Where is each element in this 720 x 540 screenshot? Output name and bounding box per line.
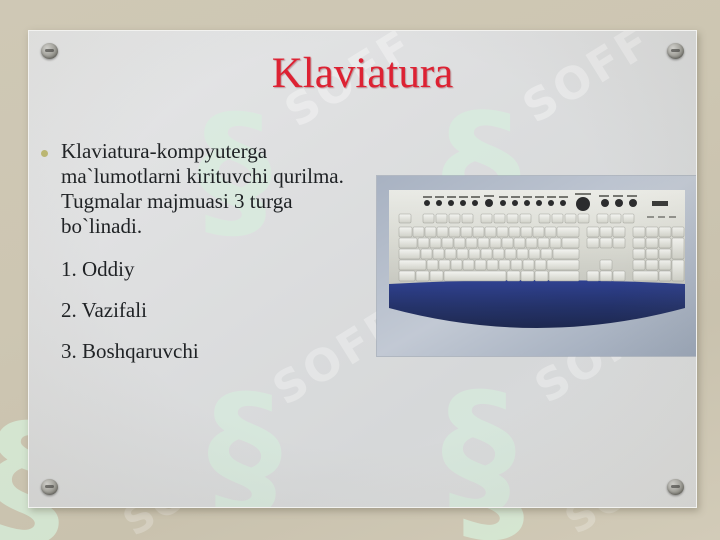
list-item: 2. Vazifali xyxy=(61,298,365,323)
screw-icon xyxy=(667,479,684,495)
list-item: 1. Oddiy xyxy=(61,257,365,282)
page-title: Klaviatura xyxy=(29,49,696,98)
bullet-list-item: Klaviatura-kompyuterga ma`lumotlarni kir… xyxy=(35,139,365,239)
watermark-logo: § xyxy=(207,391,282,508)
bullet-dot-icon xyxy=(41,150,48,157)
keyboard-photo xyxy=(377,176,697,356)
screw-icon xyxy=(41,479,58,495)
watermark-logo: § xyxy=(441,389,516,508)
screenshot-stage: § § SOFF SOFF § § § § SOFF SOFF SOFF SOF… xyxy=(0,0,720,540)
keyboard-illustration xyxy=(377,176,697,356)
body-paragraph: Klaviatura-kompyuterga ma`lumotlarni kir… xyxy=(61,139,365,239)
numbered-list: 1. Oddiy 2. Vazifali 3. Boshqaruvchi xyxy=(35,257,365,365)
list-item: 3. Boshqaruvchi xyxy=(61,339,365,364)
presentation-slide: § § § § SOFF SOFF SOFF SOFF Klaviatura K… xyxy=(28,30,697,508)
slide-body: Klaviatura-kompyuterga ma`lumotlarni kir… xyxy=(35,139,365,381)
